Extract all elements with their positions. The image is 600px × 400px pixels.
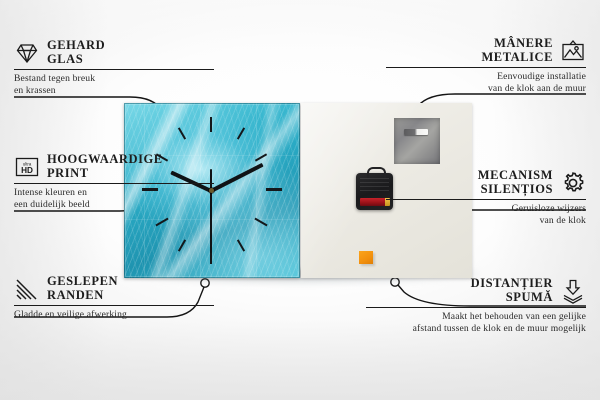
callout-title-line1: GEHARD (47, 38, 105, 52)
bevelled-edge-icon (14, 276, 40, 302)
callout-desc-line2: afstand tussen de klok en de muur mogeli… (366, 323, 586, 335)
callout-title-line1: MÂNERE (481, 36, 553, 50)
callout-geslepen-randen: GESLEPEN RANDEN Gladde en veilige afwerk… (14, 274, 214, 321)
callout-desc-line2: van de klok aan de muur (386, 83, 586, 95)
mechanism-vents (360, 178, 389, 194)
callout-desc-line2: van de klok (386, 215, 586, 227)
callout-rule (14, 69, 214, 70)
callout-rule (386, 199, 586, 200)
callout-title-line2: PRINT (47, 166, 163, 180)
callout-title-line2: RANDEN (47, 288, 118, 302)
hanger-slot (404, 129, 428, 135)
ultra-hd-icon: ultra HD (14, 154, 40, 180)
callout-desc-line1: Geruisloze wijzers (386, 203, 586, 215)
callout-title-line1: MECANISM (478, 168, 553, 182)
callout-distantier-spuma: DISTANȚIER SPUMĂ Maakt het behouden van … (366, 276, 586, 336)
callout-title-line1: HOOGWAARDIGE (47, 152, 163, 166)
callout-hoogwaardige-print: ultra HD HOOGWAARDIGE PRINT Intense kleu… (14, 152, 214, 212)
callout-desc-line1: Gladde en veilige afwerking (14, 309, 214, 321)
foam-spacer (359, 251, 373, 264)
diamond-icon (14, 40, 40, 66)
callout-rule (366, 307, 586, 308)
callout-rule (386, 67, 586, 68)
metal-hanger-plate (394, 118, 440, 164)
callout-title-line2: GLAS (47, 52, 105, 66)
callout-desc-line1: Bestand tegen breuk (14, 73, 214, 85)
spacer-press-icon (560, 278, 586, 304)
battery (360, 198, 389, 206)
callout-rule (14, 183, 214, 184)
callout-title-line2: METALICE (481, 50, 553, 64)
callout-manere-metalice: MÂNERE METALICE Eenvoudige installatie v… (386, 36, 586, 96)
callout-desc-line1: Maakt het behouden van een gelijke (366, 311, 586, 323)
picture-frame-hanger-icon (560, 38, 586, 64)
infographic-canvas: GEHARD GLAS Bestand tegen breuk en krass… (0, 0, 600, 400)
gear-icon (560, 170, 586, 196)
callout-desc-line1: Intense kleuren en (14, 187, 214, 199)
mechanism-hook (367, 167, 386, 178)
callout-gehard-glas: GEHARD GLAS Bestand tegen breuk en krass… (14, 38, 214, 98)
callout-desc-line2: een duidelijk beeld (14, 199, 214, 211)
callout-rule (14, 305, 214, 306)
callout-mecanism-silentios: MECANISM SILENȚIOS Geruisloze wijzers va… (386, 168, 586, 228)
callout-desc-line2: en krassen (14, 85, 214, 97)
callout-desc-line1: Eenvoudige installatie (386, 71, 586, 83)
callout-title-line2: SILENȚIOS (478, 182, 553, 196)
callout-title-line1: DISTANȚIER (471, 276, 553, 290)
callout-title-line2: SPUMĂ (471, 290, 553, 304)
svg-text:HD: HD (21, 166, 33, 175)
callout-title-line1: GESLEPEN (47, 274, 118, 288)
